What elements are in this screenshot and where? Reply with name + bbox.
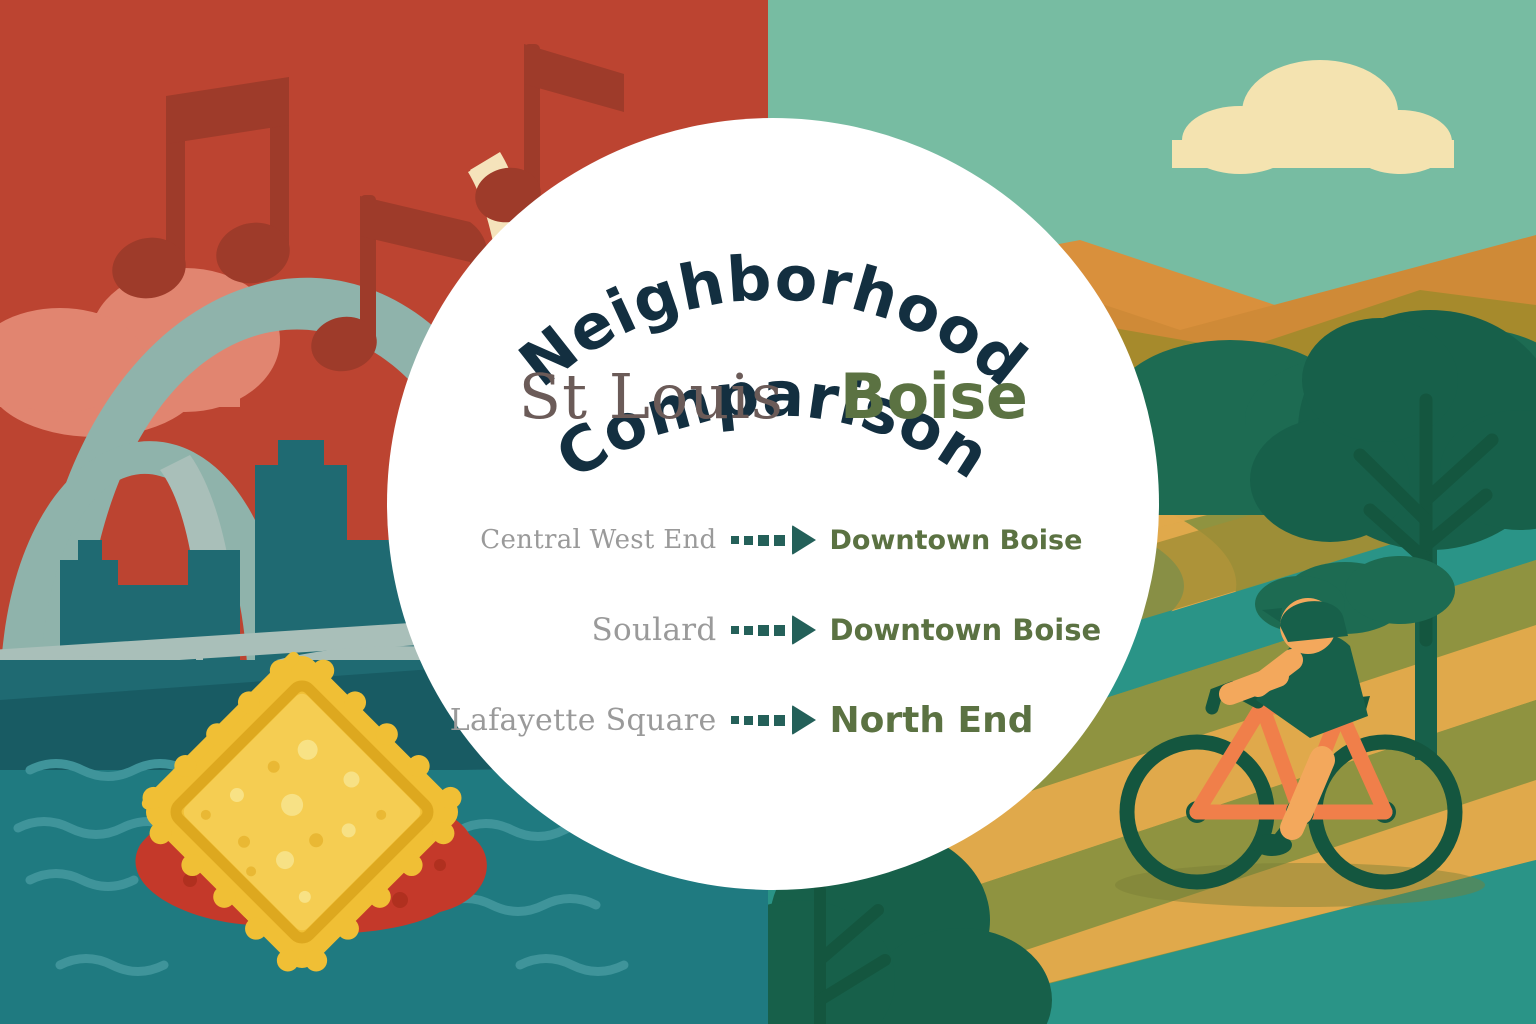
city-name-right: Boise <box>840 360 1028 433</box>
neighborhood-from: Lafayette Square <box>417 703 731 738</box>
comparison-row: Lafayette Square North End <box>400 675 1146 765</box>
arrow-head <box>792 705 816 735</box>
dotted-arrow-right-icon <box>731 525 816 555</box>
city-headers: St Louis Boise <box>400 360 1146 433</box>
neighborhood-to: North End <box>816 700 1130 741</box>
dotted-arrow-right-icon <box>731 615 816 645</box>
arrow-dash <box>731 536 739 544</box>
arrow-dash <box>758 625 769 636</box>
comparison-list: Central West End Downtown Boise Soulard … <box>400 495 1146 765</box>
comparison-row: Central West End Downtown Boise <box>400 495 1146 585</box>
neighborhood-to: Downtown Boise <box>816 613 1130 647</box>
arrow-dash <box>731 626 739 634</box>
comparison-row: Soulard Downtown Boise <box>400 585 1146 675</box>
arrow-dash <box>774 715 785 726</box>
comparison-graphic: Neighborhood Comparison St Louis Boise C… <box>0 0 1536 1024</box>
arrow-dash <box>758 715 769 726</box>
arrow-dash <box>744 626 753 635</box>
arrow-dash <box>731 716 739 724</box>
neighborhood-from: Soulard <box>417 612 731 648</box>
arrow-head <box>792 525 816 555</box>
arrow-dash <box>744 536 753 545</box>
dotted-arrow-right-icon <box>731 705 816 735</box>
neighborhood-to: Downtown Boise <box>816 525 1130 556</box>
arrow-dash <box>774 535 785 546</box>
neighborhood-from: Central West End <box>417 525 731 555</box>
arrow-head <box>792 615 816 645</box>
arrow-dash <box>744 716 753 725</box>
city-name-left: St Louis <box>519 360 784 433</box>
arrow-dash <box>774 625 785 636</box>
arrow-dash <box>758 535 769 546</box>
